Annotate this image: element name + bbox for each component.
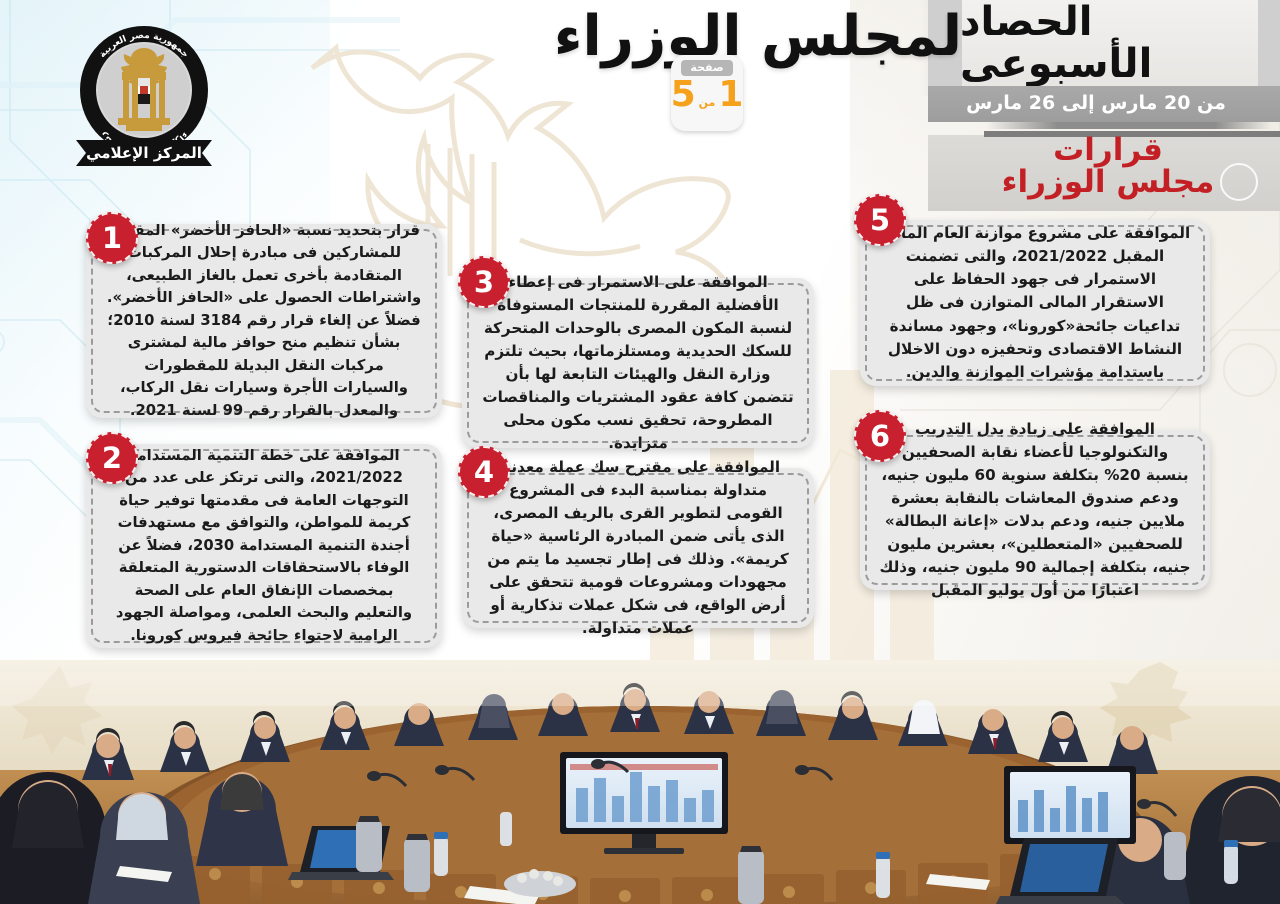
decision-card-6-inner: الموافقة على زيادة بدل التدريب والتكنولو… [865, 435, 1205, 585]
decision-badge-4: 4 [458, 446, 510, 498]
page-badge-numbers: 1 من 5 [671, 77, 744, 113]
page-title-main: لمجلس الوزراء [554, 4, 962, 69]
page-badge-of: من [699, 96, 716, 109]
decision-card-6: الموافقة على زيادة بدل التدريب والتكنولو… [860, 430, 1210, 590]
cabinet-meeting-photo [0, 660, 1280, 904]
decision-badge-2: 2 [86, 432, 138, 484]
decision-card-5-text: الموافقة على مشروع موازنة العام المالى ا… [879, 222, 1191, 384]
page-number-badge: صفحة 1 من 5 [671, 55, 743, 131]
decision-card-3-text: الموافقة على الاستمرار فى إعطاء الأفضلية… [481, 271, 795, 456]
logo-ribbon-text: المركز الإعلامي [86, 144, 202, 162]
section-title: قرارات مجلس الوزراء [966, 135, 1250, 198]
decision-card-1-inner: قرار بتحديد نسبة «الحافز الأخضر» المقررة… [91, 229, 437, 413]
decision-badge-1: 1 [86, 212, 138, 264]
decision-card-2-text: الموافقة على خطة التنمية المستدامة 2021/… [105, 445, 423, 647]
section-title-line2: مجلس الوزراء [966, 167, 1250, 199]
decision-card-3: الموافقة على الاستمرار فى إعطاء الأفضلية… [462, 278, 814, 448]
decision-card-4-text: الموافقة على مقترح سك عملة معدنية متداول… [481, 456, 795, 641]
decision-card-1-text: قرار بتحديد نسبة «الحافز الأخضر» المقررة… [105, 220, 423, 422]
egypt-cabinet-logo: جمهورية مصر العربية رئاسة مجلس الوزراء ا… [62, 16, 226, 180]
decision-card-6-text: الموافقة على زيادة بدل التدريب والتكنولو… [879, 418, 1191, 603]
decision-card-4-inner: الموافقة على مقترح سك عملة معدنية متداول… [467, 473, 809, 623]
date-range-text: من 20 مارس إلى 26 مارس [936, 92, 1256, 118]
decision-badge-5: 5 [854, 194, 906, 246]
decision-badge-6: 6 [854, 410, 906, 462]
decision-badge-3: 3 [458, 256, 510, 308]
date-bar-shadow [986, 122, 1272, 129]
page-title-block: الحصاد الأسبوعى [960, 2, 1250, 85]
decision-card-5: الموافقة على مشروع موازنة العام المالى ا… [860, 220, 1210, 386]
section-title-line1: قرارات [966, 135, 1250, 167]
decision-card-1: قرار بتحديد نسبة «الحافز الأخضر» المقررة… [86, 224, 442, 418]
page-title-line1: الحصاد [960, 2, 1250, 43]
page-badge-current: 1 [718, 77, 743, 113]
decision-card-5-inner: الموافقة على مشروع موازنة العام المالى ا… [865, 225, 1205, 381]
decision-card-4: الموافقة على مقترح سك عملة معدنية متداول… [462, 468, 814, 628]
decision-card-3-inner: الموافقة على الاستمرار فى إعطاء الأفضلية… [467, 283, 809, 443]
page-title-line2: الأسبوعى [960, 43, 1250, 85]
decision-card-2: الموافقة على خطة التنمية المستدامة 2021/… [86, 444, 442, 648]
page-badge-total: 5 [671, 77, 696, 113]
decision-card-2-inner: الموافقة على خطة التنمية المستدامة 2021/… [91, 449, 437, 643]
infographic-page: لمجلس الوزراء الحصاد الأسبوعى من 20 مارس… [0, 0, 1280, 904]
